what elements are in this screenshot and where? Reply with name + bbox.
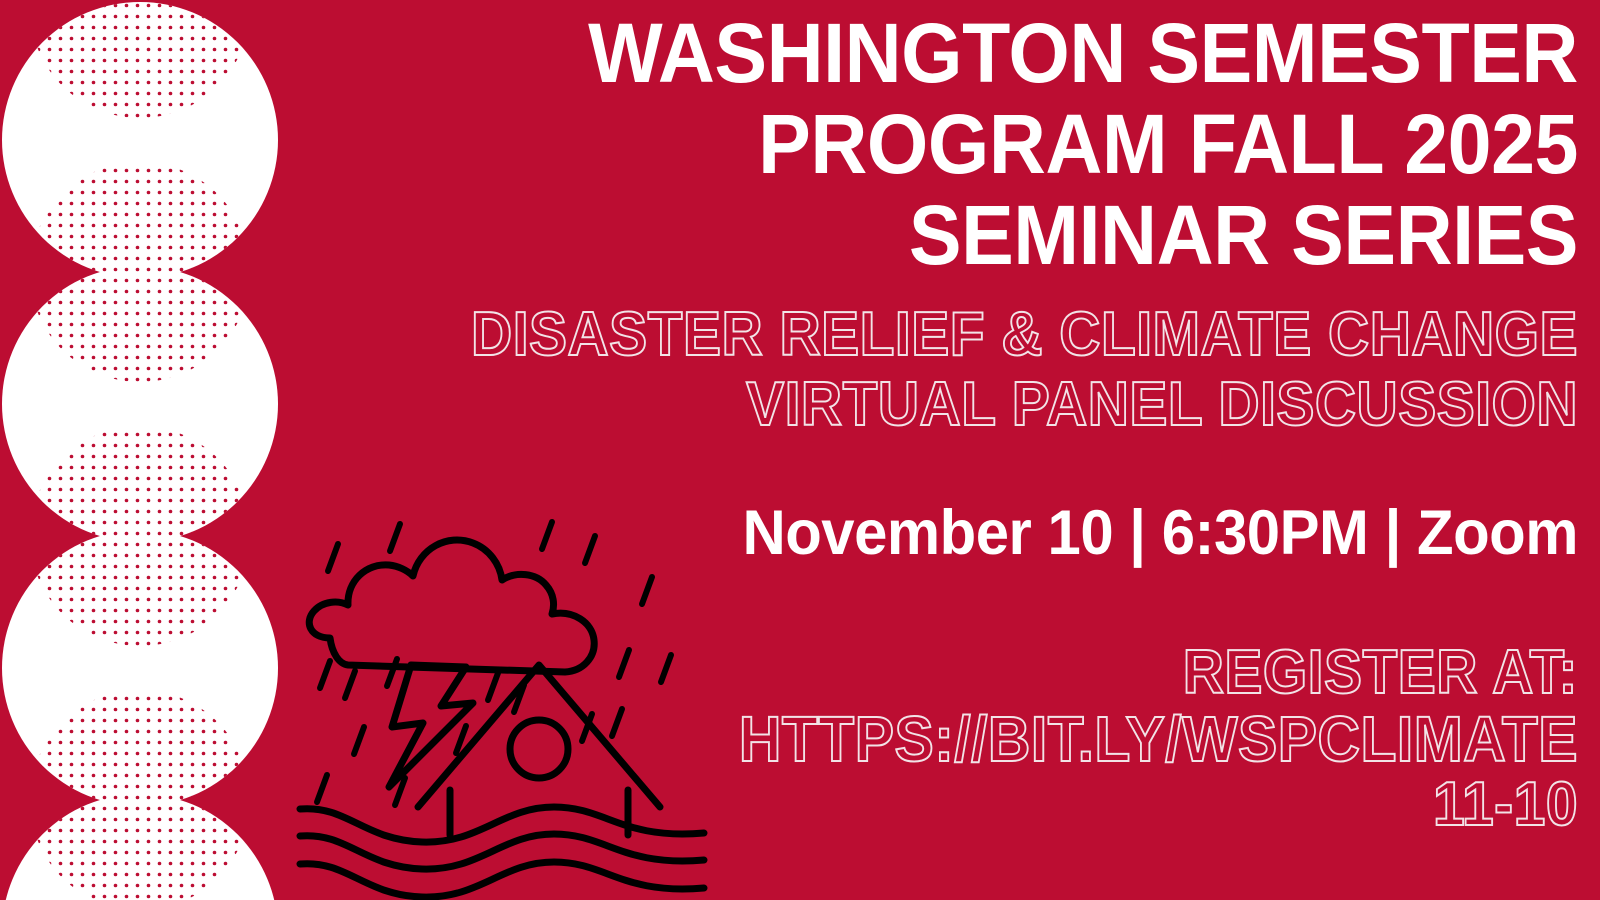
flood-waves-icon: [300, 807, 704, 897]
poster-canvas: WASHINGTON SEMESTER PROGRAM FALL 2025 SE…: [0, 0, 1600, 900]
register-url[interactable]: HTTPS://BIT.LY/WSPCLIMATE: [566, 706, 1578, 772]
subtitle-line-2: VIRTUAL PANEL DISCUSSION: [345, 370, 1578, 440]
event-datetime: November 10 | 6:30PM | Zoom: [628, 498, 1578, 568]
headline-line-3: SEMINAR SERIES: [469, 190, 1578, 281]
headline-line-1: WASHINGTON SEMESTER: [469, 8, 1578, 99]
headline-line-2: PROGRAM FALL 2025: [469, 99, 1578, 190]
lightning-bolt-icon: [389, 665, 473, 787]
storm-flood-svg: [292, 495, 712, 900]
register-url-suffix[interactable]: 11-10: [566, 772, 1578, 838]
decorative-circle-column: [0, 0, 300, 900]
register-label: REGISTER AT:: [566, 640, 1578, 706]
event-details-block: November 10 | 6:30PM | Zoom: [578, 498, 1578, 568]
storm-flood-illustration: [292, 495, 712, 900]
headline-block: WASHINGTON SEMESTER PROGRAM FALL 2025 SE…: [398, 8, 1578, 281]
decorative-circles-svg: [0, 0, 300, 900]
subtitle-block: DISASTER RELIEF & CLIMATE CHANGE VIRTUAL…: [238, 300, 1578, 440]
rain-cloud-icon: [309, 540, 594, 672]
subtitle-line-1: DISASTER RELIEF & CLIMATE CHANGE: [345, 300, 1578, 370]
